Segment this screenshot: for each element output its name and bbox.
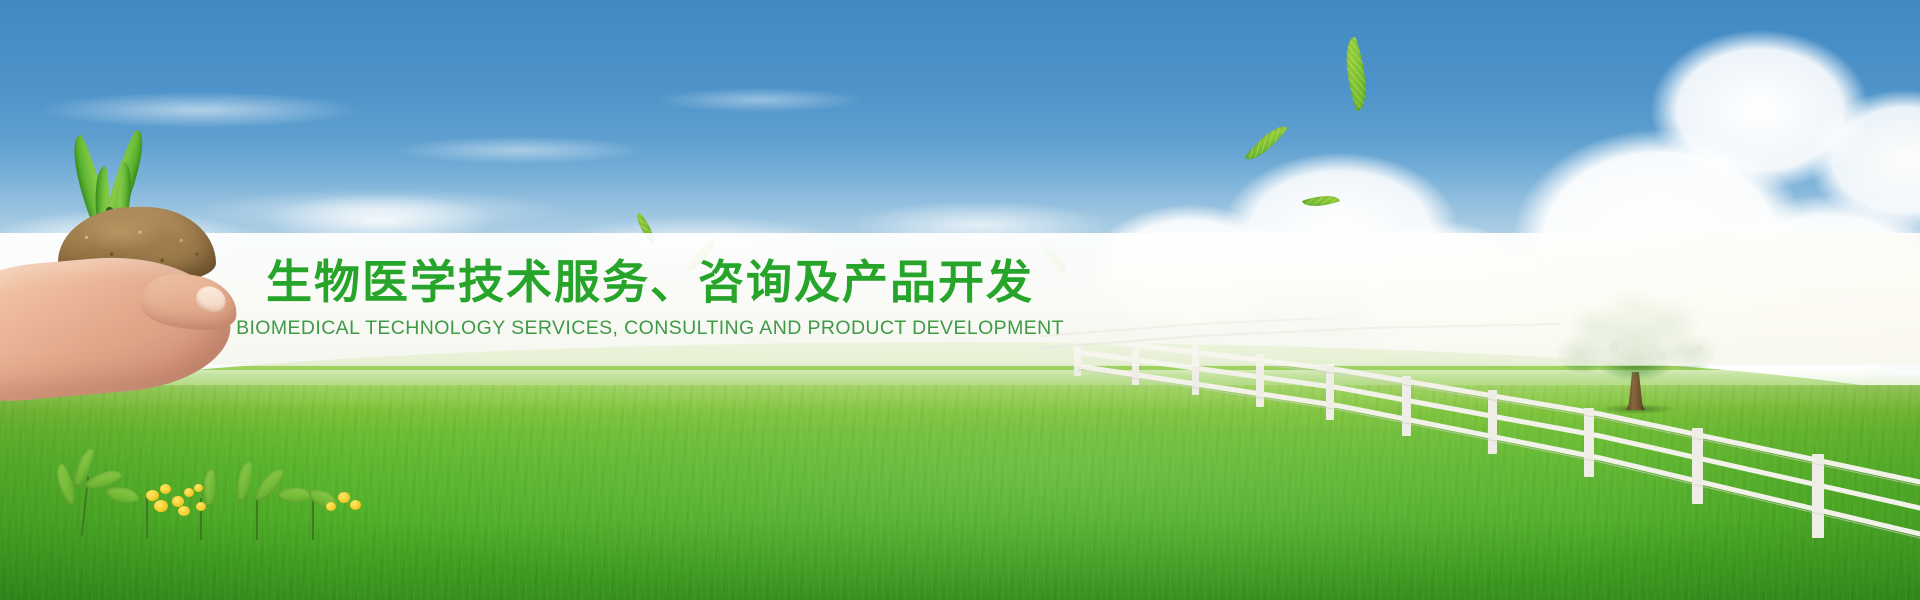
flower-bloom (326, 502, 336, 511)
flower-leaf (235, 461, 255, 502)
flower-bloom (338, 492, 350, 503)
flower-bloom (154, 500, 168, 512)
flower-bloom (196, 502, 206, 511)
page-title: 生物医学技术服务、咨询及产品开发 (266, 259, 1034, 305)
flower-leaf (254, 464, 285, 506)
flower-bloom (350, 500, 361, 510)
flower-leaf (276, 479, 312, 511)
flower-bloom (146, 490, 159, 501)
flower-bloom (160, 484, 171, 494)
hero-banner: 生物医学技术服务、咨询及产品开发 BIOMEDICAL TECHNOLOGY S… (0, 0, 1920, 600)
flower-leaf (105, 481, 139, 508)
flower-bloom (184, 488, 194, 497)
flower-bloom (194, 484, 203, 492)
hand-holding-soil-seedling-icon (0, 145, 290, 385)
flower-stem (146, 494, 148, 538)
flower-stem (312, 500, 314, 540)
page-subtitle: BIOMEDICAL TECHNOLOGY SERVICES, CONSULTI… (236, 319, 1064, 339)
yellow-flower-cluster-icon (50, 440, 390, 550)
flower-bloom (178, 506, 190, 516)
